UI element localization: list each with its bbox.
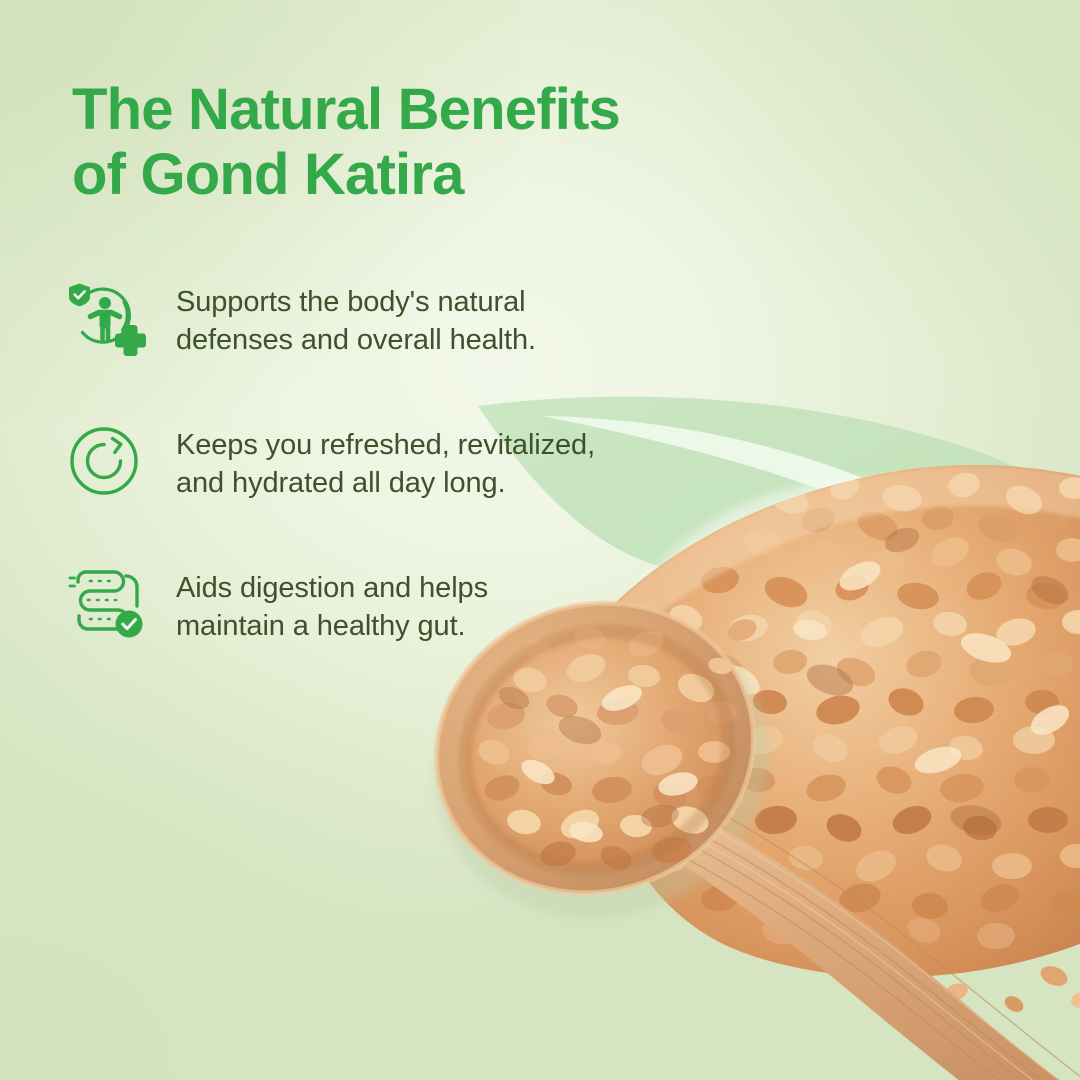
page-title: The Natural Benefits of Gond Katira: [72, 78, 832, 208]
infographic-canvas: The Natural Benefits of Gond Katira: [0, 0, 1080, 1080]
page-title-line-2: of Gond Katira: [72, 143, 832, 208]
page-title-line-1: The Natural Benefits: [72, 77, 620, 142]
intestine-check-icon: [66, 564, 158, 644]
benefit-item: Supports the body's natural defenses and…: [66, 278, 686, 374]
benefit-text: Supports the body's natural defenses and…: [158, 278, 686, 360]
refresh-circle-icon: [66, 421, 158, 501]
product-photo: [390, 380, 1080, 1080]
person-shield-plus-icon: [66, 278, 158, 358]
